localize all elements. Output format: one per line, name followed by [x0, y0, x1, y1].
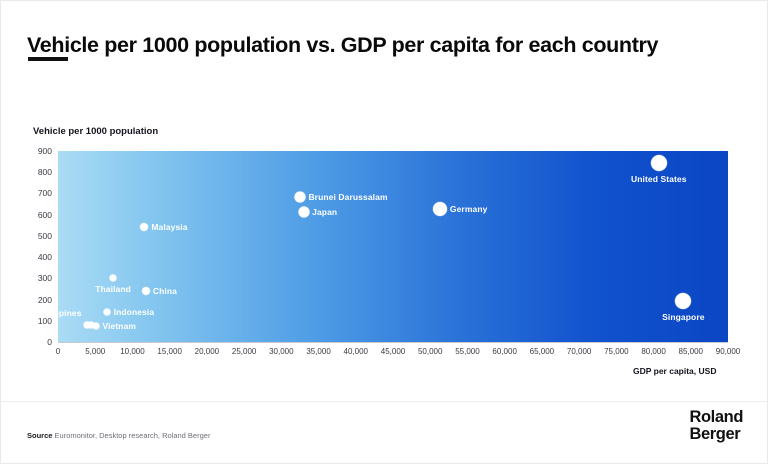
data-point-marker[interactable]: [140, 223, 148, 231]
data-point-marker[interactable]: [87, 322, 94, 329]
data-point-label: United States: [631, 174, 687, 184]
roland-berger-logo: Roland Berger: [689, 409, 743, 443]
x-axis-tick-label: 5,000: [85, 347, 105, 356]
x-axis-line: [58, 342, 728, 343]
data-point-marker[interactable]: [110, 274, 117, 281]
x-axis-tick-label: 0: [56, 347, 60, 356]
y-axis-tick-label: 500: [22, 231, 52, 241]
data-point-marker[interactable]: [294, 192, 305, 203]
y-axis-tick-label: 300: [22, 273, 52, 283]
x-axis-tick-label: 30,000: [269, 347, 293, 356]
data-point-marker[interactable]: [433, 202, 447, 216]
data-point-marker[interactable]: [675, 293, 691, 309]
scatter-chart: Vehicle per 1000 population GDP per capi…: [1, 1, 768, 465]
data-point-label: Malaysia: [151, 222, 187, 232]
y-axis-tick-label: 800: [22, 167, 52, 177]
y-axis-tick-label: 700: [22, 188, 52, 198]
y-axis-tick-label: 200: [22, 295, 52, 305]
x-axis-tick-label: 10,000: [120, 347, 144, 356]
source-label: Source: [27, 431, 52, 440]
x-axis-tick-label: 20,000: [195, 347, 219, 356]
logo-line-2: Berger: [689, 426, 743, 443]
data-point-marker[interactable]: [298, 207, 309, 218]
data-point-label: Japan: [312, 207, 337, 217]
x-axis-tick-label: 50,000: [418, 347, 442, 356]
data-point-label: Germany: [450, 204, 488, 214]
data-point-marker[interactable]: [104, 309, 111, 316]
x-axis-title: GDP per capita, USD: [633, 366, 716, 376]
y-axis-tick-label: 600: [22, 210, 52, 220]
x-axis-tick-label: 15,000: [157, 347, 181, 356]
x-axis-tick-label: 80,000: [641, 347, 665, 356]
data-point-label: Brunei Darussalam: [308, 192, 387, 202]
data-point-label: Philippines: [35, 308, 81, 318]
data-point-marker[interactable]: [651, 155, 667, 171]
x-axis-tick-label: 65,000: [530, 347, 554, 356]
y-axis-tick-label: 400: [22, 252, 52, 262]
x-axis-tick-label: 35,000: [306, 347, 330, 356]
y-axis-tick-label: 0: [22, 337, 52, 347]
x-axis-tick-label: 60,000: [492, 347, 516, 356]
x-axis-tick-label: 90,000: [716, 347, 740, 356]
y-axis-tick-label: 900: [22, 146, 52, 156]
x-axis-tick-label: 70,000: [567, 347, 591, 356]
data-point-label: Thailand: [95, 284, 131, 294]
y-axis-title: Vehicle per 1000 population: [33, 126, 158, 137]
data-point-label: Singapore: [662, 312, 704, 322]
source-text: Euromonitor, Desktop research, Roland Be…: [55, 431, 211, 440]
x-axis-tick-label: 55,000: [455, 347, 479, 356]
data-point-marker[interactable]: [142, 287, 150, 295]
data-point-label: Indonesia: [114, 307, 155, 317]
x-axis-tick-label: 45,000: [381, 347, 405, 356]
data-point-label: Vietnam: [102, 321, 136, 331]
plot-area: United StatesSingaporeGermanyBrunei Daru…: [58, 151, 728, 342]
footer-divider: [1, 401, 768, 402]
x-axis-tick-label: 85,000: [679, 347, 703, 356]
source-note: Source Euromonitor, Desktop research, Ro…: [27, 431, 210, 440]
x-axis-tick-label: 25,000: [232, 347, 256, 356]
x-axis-tick-label: 40,000: [344, 347, 368, 356]
data-point-label: China: [153, 286, 177, 296]
x-axis-tick-label: 75,000: [604, 347, 628, 356]
logo-line-1: Roland: [689, 409, 743, 426]
slide-canvas: Vehicle per 1000 population vs. GDP per …: [0, 0, 768, 464]
